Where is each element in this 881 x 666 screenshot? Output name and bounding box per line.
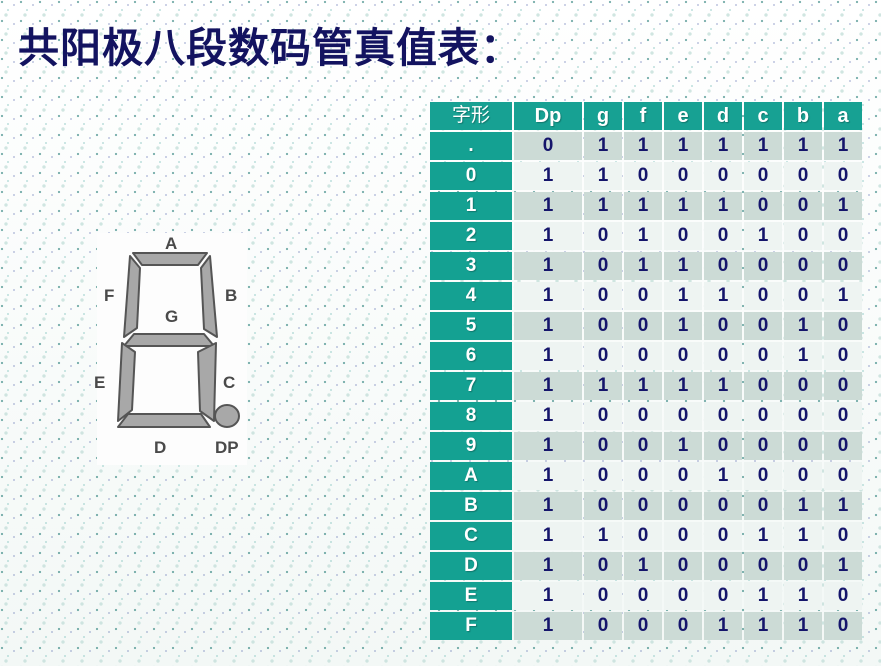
row-label-cell: 3 (430, 252, 512, 280)
segment-label-f: F (104, 286, 114, 306)
bit-cell-f: 0 (624, 312, 662, 340)
bit-cell-e: 0 (664, 462, 702, 490)
bit-cell-c: 1 (744, 522, 782, 550)
bit-cell-a: 0 (824, 312, 862, 340)
bit-cell-a: 1 (824, 192, 862, 220)
bit-cell-b: 1 (784, 492, 822, 520)
bit-cell-g: 0 (584, 252, 622, 280)
bit-cell-a: 0 (824, 582, 862, 610)
bit-cell-d: 1 (704, 132, 742, 160)
table-row: 011000000 (430, 162, 862, 190)
table-row: 410011001 (430, 282, 862, 310)
bit-cell-a: 0 (824, 162, 862, 190)
bit-cell-d: 0 (704, 252, 742, 280)
row-label-cell: 6 (430, 342, 512, 370)
bit-cell-d: 1 (704, 282, 742, 310)
bit-cell-f: 0 (624, 492, 662, 520)
table-row: 810000000 (430, 402, 862, 430)
row-label-cell: 0 (430, 162, 512, 190)
bit-cell-a: 0 (824, 402, 862, 430)
bit-cell-dp: 1 (514, 492, 582, 520)
bit-cell-dp: 1 (514, 162, 582, 190)
segment-label-b: B (225, 286, 237, 306)
bit-cell-dp: 1 (514, 462, 582, 490)
table-row: D10100001 (430, 552, 862, 580)
bit-cell-e: 0 (664, 492, 702, 520)
row-label-cell: . (430, 132, 512, 160)
segment-label-a: A (165, 234, 177, 254)
bit-cell-g: 1 (584, 372, 622, 400)
bit-cell-e: 1 (664, 282, 702, 310)
table-header-e: e (664, 102, 702, 130)
segment-g-shape (124, 334, 214, 346)
table-row: F10001110 (430, 612, 862, 640)
bit-cell-c: 0 (744, 162, 782, 190)
bit-cell-f: 0 (624, 282, 662, 310)
bit-cell-g: 0 (584, 582, 622, 610)
bit-cell-e: 0 (664, 342, 702, 370)
bit-cell-g: 0 (584, 462, 622, 490)
bit-cell-c: 1 (744, 582, 782, 610)
bit-cell-b: 1 (784, 312, 822, 340)
bit-cell-g: 0 (584, 282, 622, 310)
row-label-cell: 5 (430, 312, 512, 340)
segment-f-shape (124, 256, 140, 337)
bit-cell-f: 0 (624, 582, 662, 610)
bit-cell-b: 0 (784, 282, 822, 310)
slide-canvas: 共阳极八段数码管真值表： A F B G E C D DP (0, 0, 881, 666)
truth-table: 字形Dpgfedcba .011111110110000001111110012… (428, 100, 864, 642)
bit-cell-d: 0 (704, 162, 742, 190)
table-row: B10000011 (430, 492, 862, 520)
bit-cell-f: 0 (624, 612, 662, 640)
table-row: A10001000 (430, 462, 862, 490)
bit-cell-e: 1 (664, 192, 702, 220)
seven-segment-figure: A F B G E C D DP (97, 233, 247, 465)
bit-cell-f: 1 (624, 222, 662, 250)
bit-cell-b: 0 (784, 552, 822, 580)
bit-cell-f: 0 (624, 342, 662, 370)
row-label-cell: A (430, 462, 512, 490)
row-label-cell: B (430, 492, 512, 520)
segment-c-shape (198, 343, 216, 421)
segment-e-shape (118, 343, 135, 421)
table-header-d: d (704, 102, 742, 130)
segment-b-shape (201, 256, 217, 337)
bit-cell-g: 0 (584, 222, 622, 250)
bit-cell-g: 1 (584, 162, 622, 190)
bit-cell-b: 1 (784, 522, 822, 550)
decimal-point-shape (215, 405, 239, 427)
row-label-cell: C (430, 522, 512, 550)
bit-cell-b: 0 (784, 372, 822, 400)
bit-cell-d: 0 (704, 522, 742, 550)
bit-cell-d: 1 (704, 192, 742, 220)
segment-d-shape (118, 414, 210, 427)
bit-cell-g: 0 (584, 402, 622, 430)
bit-cell-f: 1 (624, 252, 662, 280)
segment-label-d: D (154, 438, 166, 458)
bit-cell-c: 0 (744, 342, 782, 370)
segment-label-e: E (94, 373, 105, 393)
table-row: 310110000 (430, 252, 862, 280)
bit-cell-d: 0 (704, 402, 742, 430)
bit-cell-e: 0 (664, 222, 702, 250)
bit-cell-dp: 1 (514, 432, 582, 460)
bit-cell-g: 0 (584, 552, 622, 580)
table-header-c: c (744, 102, 782, 130)
bit-cell-f: 0 (624, 522, 662, 550)
bit-cell-d: 0 (704, 582, 742, 610)
bit-cell-e: 0 (664, 612, 702, 640)
table-row: 711111000 (430, 372, 862, 400)
bit-cell-f: 1 (624, 372, 662, 400)
table-row: 111111001 (430, 192, 862, 220)
bit-cell-dp: 1 (514, 402, 582, 430)
bit-cell-a: 1 (824, 552, 862, 580)
bit-cell-a: 0 (824, 252, 862, 280)
bit-cell-g: 1 (584, 192, 622, 220)
table-header-a: a (824, 102, 862, 130)
truth-table-head: 字形Dpgfedcba (430, 102, 862, 130)
truth-table-body: .011111110110000001111110012101001003101… (430, 132, 862, 640)
bit-cell-g: 0 (584, 492, 622, 520)
bit-cell-c: 0 (744, 402, 782, 430)
bit-cell-e: 0 (664, 582, 702, 610)
table-row: 610000010 (430, 342, 862, 370)
table-row: E10000110 (430, 582, 862, 610)
bit-cell-d: 1 (704, 462, 742, 490)
bit-cell-d: 0 (704, 552, 742, 580)
bit-cell-e: 0 (664, 552, 702, 580)
bit-cell-b: 1 (784, 132, 822, 160)
table-header-glyph: 字形 (430, 102, 512, 130)
table-row: C11000110 (430, 522, 862, 550)
row-label-cell: 4 (430, 282, 512, 310)
bit-cell-f: 1 (624, 192, 662, 220)
table-header-row: 字形Dpgfedcba (430, 102, 862, 130)
segment-a-shape (133, 253, 207, 265)
bit-cell-a: 1 (824, 282, 862, 310)
bit-cell-c: 0 (744, 462, 782, 490)
row-label-cell: F (430, 612, 512, 640)
table-row: 210100100 (430, 222, 862, 250)
table-row: .01111111 (430, 132, 862, 160)
bit-cell-e: 0 (664, 162, 702, 190)
bit-cell-dp: 1 (514, 342, 582, 370)
bit-cell-b: 0 (784, 462, 822, 490)
bit-cell-b: 0 (784, 252, 822, 280)
bit-cell-f: 1 (624, 132, 662, 160)
segment-label-c: C (223, 373, 235, 393)
bit-cell-b: 0 (784, 402, 822, 430)
bit-cell-b: 0 (784, 222, 822, 250)
bit-cell-c: 0 (744, 252, 782, 280)
bit-cell-g: 1 (584, 132, 622, 160)
bit-cell-c: 1 (744, 132, 782, 160)
segment-label-g: G (165, 307, 178, 327)
bit-cell-e: 1 (664, 252, 702, 280)
bit-cell-dp: 1 (514, 372, 582, 400)
bit-cell-dp: 1 (514, 552, 582, 580)
bit-cell-dp: 1 (514, 282, 582, 310)
bit-cell-f: 0 (624, 432, 662, 460)
bit-cell-c: 0 (744, 282, 782, 310)
bit-cell-d: 0 (704, 432, 742, 460)
bit-cell-a: 1 (824, 132, 862, 160)
bit-cell-d: 0 (704, 312, 742, 340)
bit-cell-f: 0 (624, 162, 662, 190)
segment-label-dp: DP (215, 438, 239, 458)
row-label-cell: 1 (430, 192, 512, 220)
row-label-cell: 7 (430, 372, 512, 400)
bit-cell-d: 1 (704, 612, 742, 640)
row-label-cell: 2 (430, 222, 512, 250)
bit-cell-e: 1 (664, 432, 702, 460)
row-label-cell: D (430, 552, 512, 580)
bit-cell-a: 0 (824, 372, 862, 400)
bit-cell-g: 0 (584, 342, 622, 370)
bit-cell-b: 1 (784, 342, 822, 370)
table-header-b: b (784, 102, 822, 130)
bit-cell-dp: 1 (514, 612, 582, 640)
bit-cell-dp: 0 (514, 132, 582, 160)
bit-cell-a: 0 (824, 462, 862, 490)
bit-cell-e: 1 (664, 312, 702, 340)
bit-cell-dp: 1 (514, 252, 582, 280)
bit-cell-dp: 1 (514, 582, 582, 610)
bit-cell-dp: 1 (514, 192, 582, 220)
bit-cell-a: 0 (824, 342, 862, 370)
bit-cell-c: 0 (744, 432, 782, 460)
bit-cell-d: 0 (704, 342, 742, 370)
bit-cell-a: 0 (824, 222, 862, 250)
bit-cell-g: 0 (584, 612, 622, 640)
bit-cell-g: 0 (584, 432, 622, 460)
table-header-g: g (584, 102, 622, 130)
bit-cell-dp: 1 (514, 222, 582, 250)
bit-cell-c: 0 (744, 552, 782, 580)
table-row: 510010010 (430, 312, 862, 340)
bit-cell-g: 1 (584, 522, 622, 550)
bit-cell-e: 0 (664, 522, 702, 550)
row-label-cell: 9 (430, 432, 512, 460)
bit-cell-c: 1 (744, 612, 782, 640)
row-label-cell: 8 (430, 402, 512, 430)
bit-cell-d: 0 (704, 222, 742, 250)
bit-cell-d: 0 (704, 492, 742, 520)
bit-cell-g: 0 (584, 312, 622, 340)
bit-cell-c: 0 (744, 492, 782, 520)
bit-cell-a: 0 (824, 612, 862, 640)
seven-segment-diagram-svg (97, 233, 247, 465)
bit-cell-c: 0 (744, 192, 782, 220)
bit-cell-b: 0 (784, 432, 822, 460)
bit-cell-e: 1 (664, 132, 702, 160)
bit-cell-a: 0 (824, 432, 862, 460)
bit-cell-b: 0 (784, 162, 822, 190)
bit-cell-dp: 1 (514, 522, 582, 550)
table-row: 910010000 (430, 432, 862, 460)
bit-cell-b: 1 (784, 582, 822, 610)
bit-cell-f: 1 (624, 552, 662, 580)
bit-cell-d: 1 (704, 372, 742, 400)
page-title: 共阳极八段数码管真值表： (18, 14, 522, 74)
bit-cell-c: 1 (744, 222, 782, 250)
table-header-f: f (624, 102, 662, 130)
bit-cell-a: 0 (824, 522, 862, 550)
bit-cell-e: 1 (664, 372, 702, 400)
bit-cell-f: 0 (624, 462, 662, 490)
bit-cell-b: 0 (784, 192, 822, 220)
bit-cell-c: 0 (744, 312, 782, 340)
bit-cell-b: 1 (784, 612, 822, 640)
bit-cell-a: 1 (824, 492, 862, 520)
bit-cell-f: 0 (624, 402, 662, 430)
bit-cell-e: 0 (664, 402, 702, 430)
table-header-dp: Dp (514, 102, 582, 130)
bit-cell-c: 0 (744, 372, 782, 400)
row-label-cell: E (430, 582, 512, 610)
bit-cell-dp: 1 (514, 312, 582, 340)
